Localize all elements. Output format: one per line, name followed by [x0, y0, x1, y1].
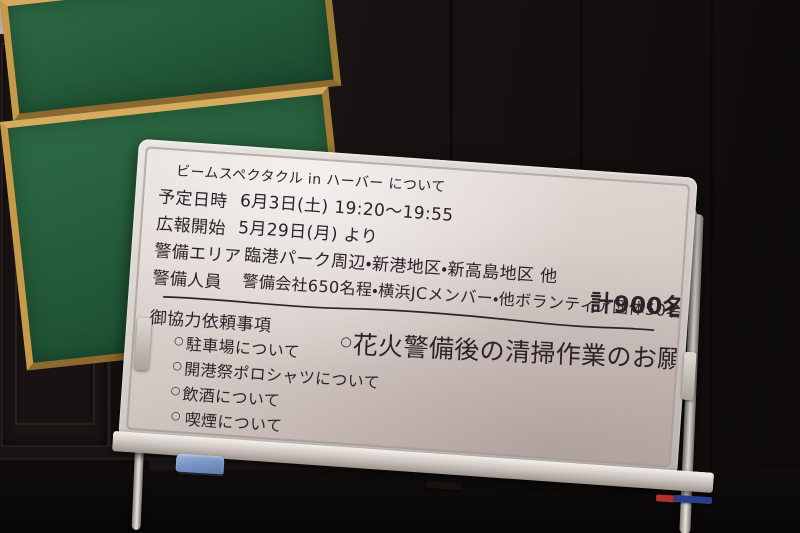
wb-row-0-label: 予定日時	[157, 182, 228, 212]
wb-highlight-marker: ○	[340, 334, 353, 350]
wb-bullet-1-marker: ○	[172, 359, 183, 373]
whiteboard-surface[interactable]: ビームスペクタクル in ハーバー について 予定日時 6月3日(土) 19:2…	[128, 148, 688, 465]
wb-bullet-3-marker: ○	[170, 409, 181, 423]
wb-row-2-label: 警備エリア	[154, 236, 243, 267]
wb-bullet-0-marker: ○	[174, 334, 185, 348]
wb-total-badge: 計900名	[589, 284, 687, 323]
wb-row-3-label: 警備人員	[152, 263, 223, 293]
wb-row-1-label: 広報開始	[156, 209, 227, 239]
whiteboard-eraser[interactable]	[175, 454, 224, 475]
wb-bullet-2-marker: ○	[170, 384, 181, 398]
photo-scene: ビームスペクタクル in ハーバー について 予定日時 6月3日(土) 19:2…	[0, 0, 800, 533]
whiteboard[interactable]: ビームスペクタクル in ハーバー について 予定日時 6月3日(土) 19:2…	[118, 139, 698, 477]
